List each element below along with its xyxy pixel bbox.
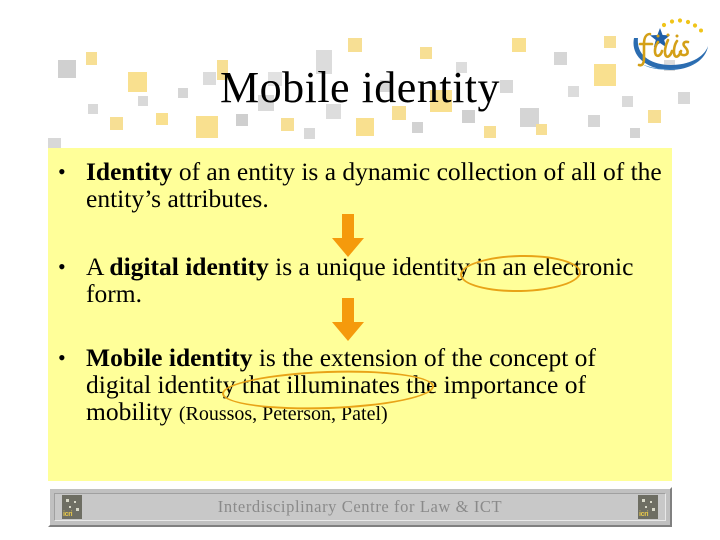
slide-canvas: Mobile identity: [0, 0, 720, 540]
down-arrow-2: [330, 298, 366, 347]
bullet-text: A digital identity is a unique identity …: [86, 253, 668, 307]
bullet-dot: •: [58, 344, 66, 371]
confetti-square: [110, 117, 123, 130]
confetti-square: [630, 128, 640, 138]
icri-wordmark: icri: [63, 511, 72, 518]
confetti-square: [484, 126, 496, 138]
confetti-square: [604, 36, 616, 48]
icri-wordmark: icri: [639, 511, 648, 518]
footer-label: Interdisciplinary Centre for Law & ICT: [218, 497, 502, 517]
bullet-lead: digital identity: [109, 252, 268, 281]
confetti-square: [536, 124, 547, 135]
confetti-square: [588, 115, 600, 127]
confetti-square: [236, 114, 248, 126]
confetti-square: [281, 118, 294, 131]
confetti-square: [196, 116, 218, 138]
bullet-rest: of an entity is a dynamic collection of …: [86, 157, 662, 213]
confetti-square: [420, 47, 432, 59]
confetti-square: [348, 38, 362, 52]
bullet-pre: A: [86, 252, 109, 281]
confetti-square: [356, 118, 374, 136]
bullet-lead: Mobile identity: [86, 343, 252, 372]
footer-inner: Interdisciplinary Centre for Law & ICT: [54, 493, 666, 521]
bullet-text: Identity of an entity is a dynamic colle…: [86, 158, 668, 212]
bullet-dot: •: [58, 158, 66, 185]
confetti-square: [412, 122, 423, 133]
down-arrow-1: [330, 214, 366, 263]
confetti-square: [304, 128, 315, 139]
confetti-square: [512, 38, 526, 52]
icri-logo-left: icri: [62, 495, 82, 519]
fidis-logo: [620, 8, 712, 78]
icri-logo-right: icri: [638, 495, 658, 519]
list-item: • Identity of an entity is a dynamic col…: [48, 158, 668, 212]
footer-bar: Interdisciplinary Centre for Law & ICT i…: [48, 487, 672, 527]
bullet-dot: •: [58, 253, 66, 280]
bullet-lead: Identity: [86, 157, 172, 186]
confetti-square: [156, 113, 168, 125]
page-title: Mobile identity: [0, 62, 720, 114]
